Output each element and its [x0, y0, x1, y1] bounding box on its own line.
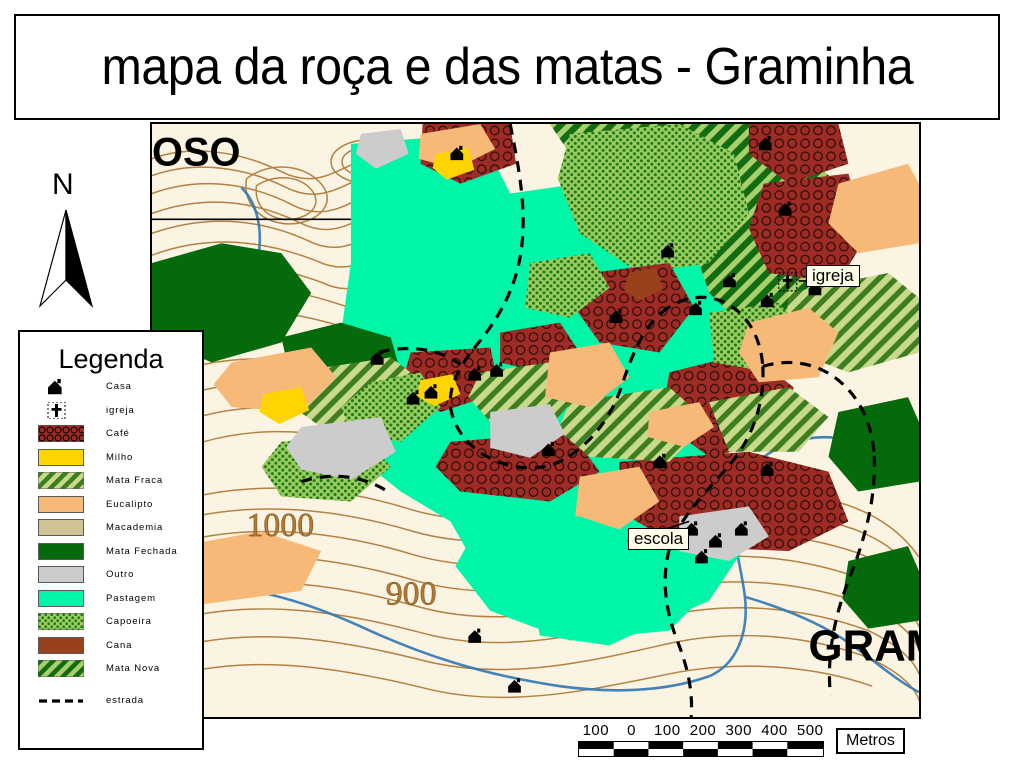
legend-item-capoeira[interactable]: Capoeira [20, 610, 202, 634]
legend-item-mata-nova[interactable]: Mata Nova [20, 657, 202, 681]
scale-tick-4: 300 [721, 722, 757, 739]
legend-item-igreja[interactable]: igreja [20, 399, 202, 423]
legend-item-eucalipto[interactable]: Eucalipto [20, 493, 202, 517]
terrain-label-900: 900 [386, 576, 437, 613]
house-icon [38, 378, 84, 395]
legend-item-label: Milho [106, 452, 133, 463]
legend-item-label: Casa [106, 381, 132, 392]
legend-swatch-solid [38, 496, 84, 513]
legend-swatch-solid [38, 566, 84, 583]
scale-tick-2: 100 [649, 722, 685, 739]
scale-tick-3: 200 [685, 722, 721, 739]
legend-item-casa[interactable]: Casa [20, 375, 202, 399]
legend-item-label: Mata Nova [106, 663, 160, 674]
legend-item-cana[interactable]: Cana [20, 634, 202, 658]
scale-tick-1: 0 [614, 722, 650, 739]
legend-item-café[interactable]: Café [20, 422, 202, 446]
legend-item-label: Pastagem [106, 593, 156, 604]
legend-swatch-circles [38, 425, 84, 442]
legend-swatch-solid [38, 543, 84, 560]
legend-item-mata-fechada[interactable]: Mata Fechada [20, 540, 202, 564]
church-icon [38, 402, 84, 419]
legend-swatch-diagonal [38, 660, 84, 677]
legend-item-label: Macademia [106, 522, 163, 533]
scale-tick-6: 500 [792, 722, 828, 739]
legend-item-pastagem[interactable]: Pastagem [20, 587, 202, 611]
legend-item-macademia[interactable]: Macademia [20, 516, 202, 540]
scale-bar-graphic [578, 741, 824, 757]
callout-igreja[interactable]: igreja [806, 265, 860, 287]
legend-item-milho[interactable]: Milho [20, 446, 202, 470]
legend-item-label: Café [106, 428, 130, 439]
north-arrow: N [24, 168, 134, 313]
scale-tick-0: 100 [578, 722, 614, 739]
legend-item-mata-fraca[interactable]: Mata Fraca [20, 469, 202, 493]
legend-rows: Casa igreja CaféMilho Mata FracaEucalipt… [20, 375, 202, 712]
title-box: mapa da roça e das matas - Graminha [14, 14, 1000, 120]
legend-swatch-solid [38, 637, 84, 654]
scale-tick-5: 400 [757, 722, 793, 739]
legend-item-label: Mata Fechada [106, 546, 178, 557]
legend-item-estrada[interactable]: estrada [20, 689, 202, 713]
scale-units-label: Metros [836, 728, 905, 754]
legend-swatch-diagonal [38, 472, 84, 489]
legend-swatch-dots [38, 613, 84, 630]
legend-item-label: igreja [106, 405, 135, 416]
legend-item-label: Mata Fraca [106, 475, 163, 486]
legend-swatch-solid [38, 449, 84, 466]
legend-swatch-solid [38, 590, 84, 607]
scale-tick-labels: 1000100200300400500 [578, 722, 828, 739]
terrain-label-oso: OSO [152, 131, 240, 175]
north-label: N [52, 168, 74, 202]
callout-escola[interactable]: escola [628, 528, 689, 550]
legend-swatch-dashed-line [38, 692, 84, 709]
legend-item-label: Outro [106, 569, 134, 580]
legend-panel: Legenda Casa igreja CaféMilho Mata Fraca… [18, 330, 204, 750]
terrain-label-1000: 1000 [247, 507, 315, 544]
legend-item-label: Capoeira [106, 616, 152, 627]
map-canvas[interactable]: OSO 1000 900 GRAM [150, 122, 921, 719]
map-svg: OSO 1000 900 GRAM [152, 124, 919, 717]
page-title: mapa da roça e das matas - Graminha [101, 37, 913, 97]
legend-title: Legenda [20, 344, 202, 375]
legend-item-outro[interactable]: Outro [20, 563, 202, 587]
legend-item-label: Cana [106, 640, 132, 651]
north-arrow-icon [24, 168, 134, 313]
legend-item-label: estrada [106, 695, 144, 706]
legend-swatch-solid [38, 519, 84, 536]
scale-bar-group: 1000100200300400500 [578, 722, 828, 762]
legend-item-label: Eucalipto [106, 499, 153, 510]
terrain-label-gram: GRAM [809, 621, 919, 670]
